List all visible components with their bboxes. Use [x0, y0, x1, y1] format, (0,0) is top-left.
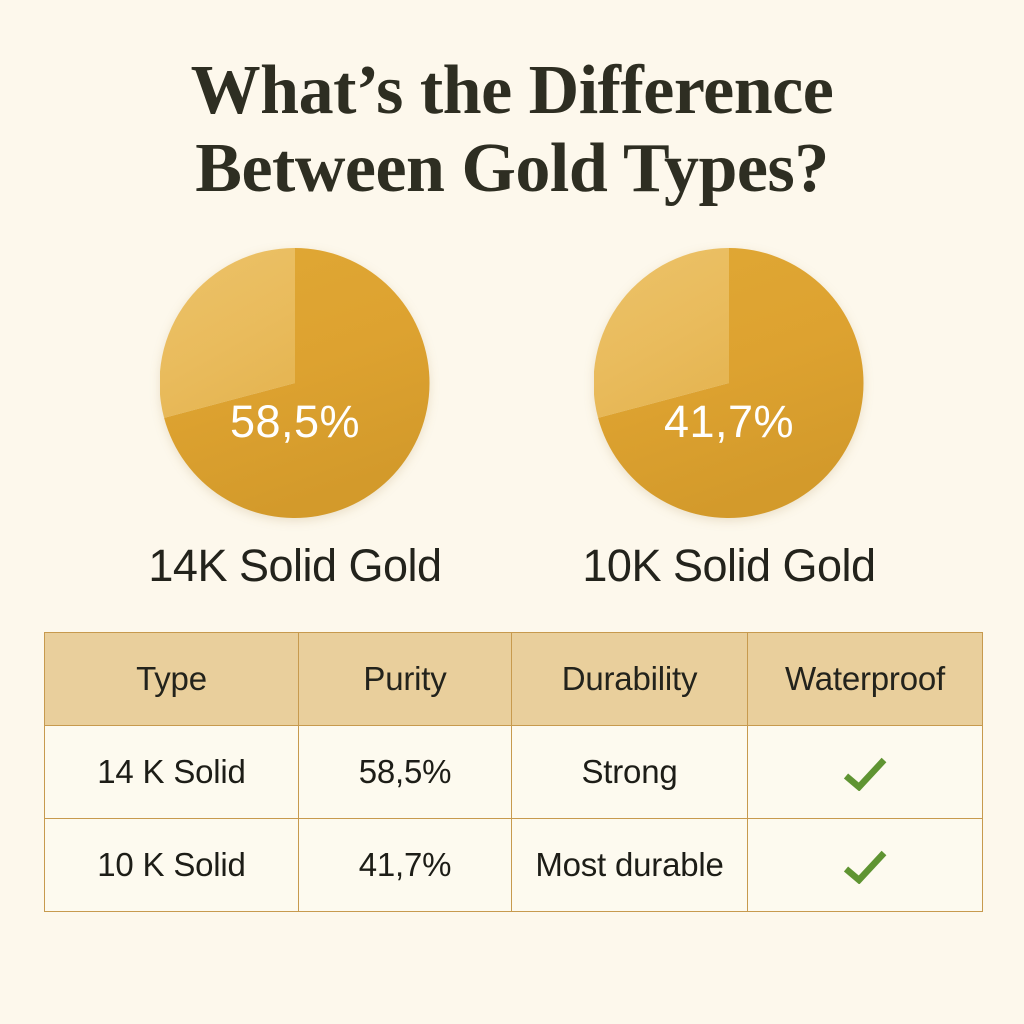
cell-waterproof-14k [748, 726, 983, 819]
table-row: 14 K Solid 58,5% Strong [45, 726, 983, 819]
pie-caption-14k: 14K Solid Gold [85, 540, 505, 592]
pie-charts-section: 58,5% 14K Solid Gold [0, 248, 1024, 598]
cell-durability-14k: Strong [512, 726, 748, 819]
column-header-type: Type [45, 633, 299, 726]
gold-comparison-table: Type Purity Durability Waterproof 14 K S… [44, 632, 983, 912]
table-row: 10 K Solid 41,7% Most durable [45, 819, 983, 912]
cell-type-14k: 14 K Solid [45, 726, 299, 819]
cell-purity-14k: 58,5% [299, 726, 512, 819]
table-header: Type Purity Durability Waterproof [45, 633, 983, 726]
cell-type-10k: 10 K Solid [45, 819, 299, 912]
cell-durability-10k: Most durable [512, 819, 748, 912]
pie-chart-14k: 58,5% [160, 248, 430, 518]
pie-group-10k: 41,7% 10K Solid Gold [519, 248, 939, 592]
page-title: What’s the Difference Between Gold Types… [0, 52, 1024, 208]
cell-waterproof-10k [748, 819, 983, 912]
cell-purity-10k: 41,7% [299, 819, 512, 912]
column-header-durability: Durability [512, 633, 748, 726]
table-header-row: Type Purity Durability Waterproof [45, 633, 983, 726]
check-icon [842, 757, 888, 791]
check-icon [842, 850, 888, 884]
page-title-line-2: Between Gold Types? [0, 130, 1024, 208]
pie-chart-10k: 41,7% [594, 248, 864, 518]
pie-caption-10k: 10K Solid Gold [519, 540, 939, 592]
table-body: 14 K Solid 58,5% Strong 10 K Solid 41,7%… [45, 726, 983, 912]
column-header-purity: Purity [299, 633, 512, 726]
pie-chart-icon [160, 248, 430, 518]
pie-chart-icon [594, 248, 864, 518]
page-title-line-1: What’s the Difference [0, 52, 1024, 130]
infographic-page: What’s the Difference Between Gold Types… [0, 0, 1024, 1024]
column-header-waterproof: Waterproof [748, 633, 983, 726]
pie-group-14k: 58,5% 14K Solid Gold [85, 248, 505, 592]
